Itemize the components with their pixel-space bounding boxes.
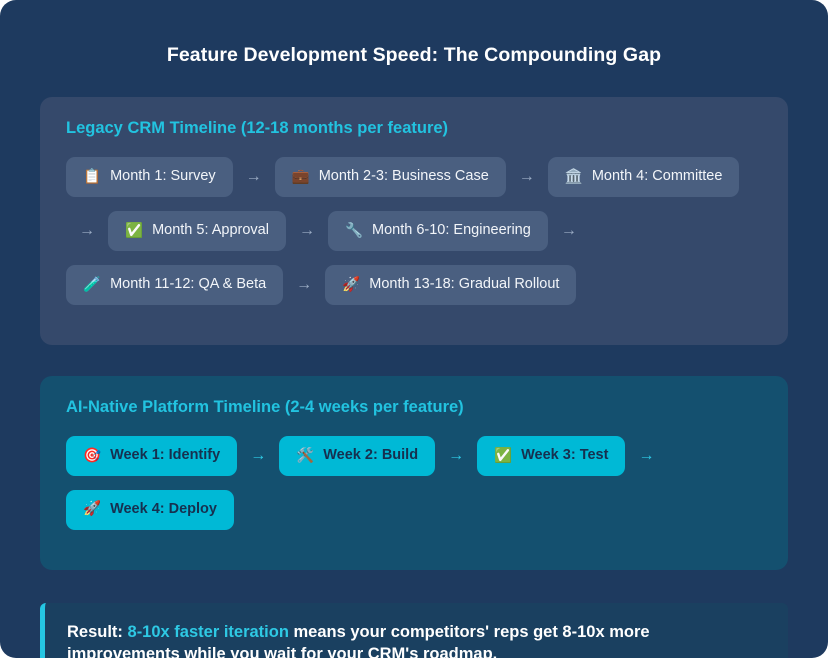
- test-tube-icon: 🧪: [83, 278, 101, 293]
- clipboard-icon: 📋: [83, 170, 101, 185]
- step-arrow-icon: →: [283, 277, 325, 293]
- step-arrow-icon: →: [548, 223, 590, 239]
- infographic-page: Feature Development Speed: The Compoundi…: [0, 0, 828, 658]
- step-arrow-icon: →: [625, 448, 667, 464]
- timeline-step-chip[interactable]: 🚀Month 13-18: Gradual Rollout: [325, 265, 576, 305]
- legacy-timeline-panel: Legacy CRM Timeline (12-18 months per fe…: [40, 97, 788, 345]
- timeline-step-chip[interactable]: 🛠️Week 2: Build: [279, 436, 435, 476]
- step-arrow-icon: →: [233, 169, 275, 185]
- step-arrow-icon: →: [66, 223, 108, 239]
- step-arrow-icon: →: [286, 223, 328, 239]
- rocket-icon: 🚀: [83, 502, 101, 517]
- step-arrow-icon: →: [506, 169, 548, 185]
- result-highlight: 8-10x faster iteration: [128, 623, 289, 641]
- direct-hit-icon: 🎯: [83, 449, 101, 464]
- ai-timeline-heading: AI-Native Platform Timeline (2-4 weeks p…: [66, 398, 762, 418]
- timeline-step-chip[interactable]: 📋Month 1: Survey: [66, 157, 233, 197]
- timeline-step-label: Month 5: Approval: [152, 223, 269, 239]
- timeline-step-label: Month 1: Survey: [110, 169, 216, 185]
- timeline-step-label: Month 6-10: Engineering: [372, 223, 531, 239]
- page-title: Feature Development Speed: The Compoundi…: [40, 44, 788, 67]
- timeline-step-chip[interactable]: ✅Week 3: Test: [477, 436, 625, 476]
- timeline-step-chip[interactable]: 🚀Week 4: Deploy: [66, 490, 234, 530]
- step-arrow-icon: →: [237, 448, 279, 464]
- hammer-and-wrench-icon: 🛠️: [296, 449, 314, 464]
- timeline-step-chip[interactable]: 🎯Week 1: Identify: [66, 436, 237, 476]
- result-callout: Result: 8-10x faster iteration means you…: [40, 603, 788, 658]
- timeline-step-chip[interactable]: 🔧Month 6-10: Engineering: [328, 211, 548, 251]
- rocket-icon: 🚀: [342, 278, 360, 293]
- check-mark-button-icon: ✅: [494, 449, 512, 464]
- legacy-timeline-steps: 📋Month 1: Survey→💼Month 2-3: Business Ca…: [66, 157, 762, 319]
- ai-timeline-panel: AI-Native Platform Timeline (2-4 weeks p…: [40, 376, 788, 570]
- ai-timeline-steps: 🎯Week 1: Identify→🛠️Week 2: Build→✅Week …: [66, 436, 762, 544]
- timeline-step-label: Month 13-18: Gradual Rollout: [369, 277, 559, 293]
- legacy-timeline-heading: Legacy CRM Timeline (12-18 months per fe…: [66, 119, 762, 139]
- classical-building-icon: 🏛️: [565, 170, 583, 185]
- briefcase-icon: 💼: [292, 170, 310, 185]
- timeline-step-chip[interactable]: 🧪Month 11-12: QA & Beta: [66, 265, 283, 305]
- step-arrow-icon: →: [435, 448, 477, 464]
- timeline-step-chip[interactable]: 🏛️Month 4: Committee: [548, 157, 740, 197]
- timeline-step-label: Month 4: Committee: [592, 169, 723, 185]
- timeline-step-chip[interactable]: ✅Month 5: Approval: [108, 211, 286, 251]
- timeline-step-label: Week 3: Test: [521, 448, 608, 464]
- check-mark-button-icon: ✅: [125, 224, 143, 239]
- timeline-step-label: Week 1: Identify: [110, 448, 220, 464]
- result-prefix: Result:: [67, 623, 123, 641]
- timeline-step-label: Week 4: Deploy: [110, 502, 217, 518]
- timeline-step-label: Week 2: Build: [323, 448, 418, 464]
- timeline-step-label: Month 2-3: Business Case: [319, 169, 489, 185]
- wrench-icon: 🔧: [345, 224, 363, 239]
- timeline-step-label: Month 11-12: QA & Beta: [110, 277, 266, 293]
- timeline-step-chip[interactable]: 💼Month 2-3: Business Case: [275, 157, 506, 197]
